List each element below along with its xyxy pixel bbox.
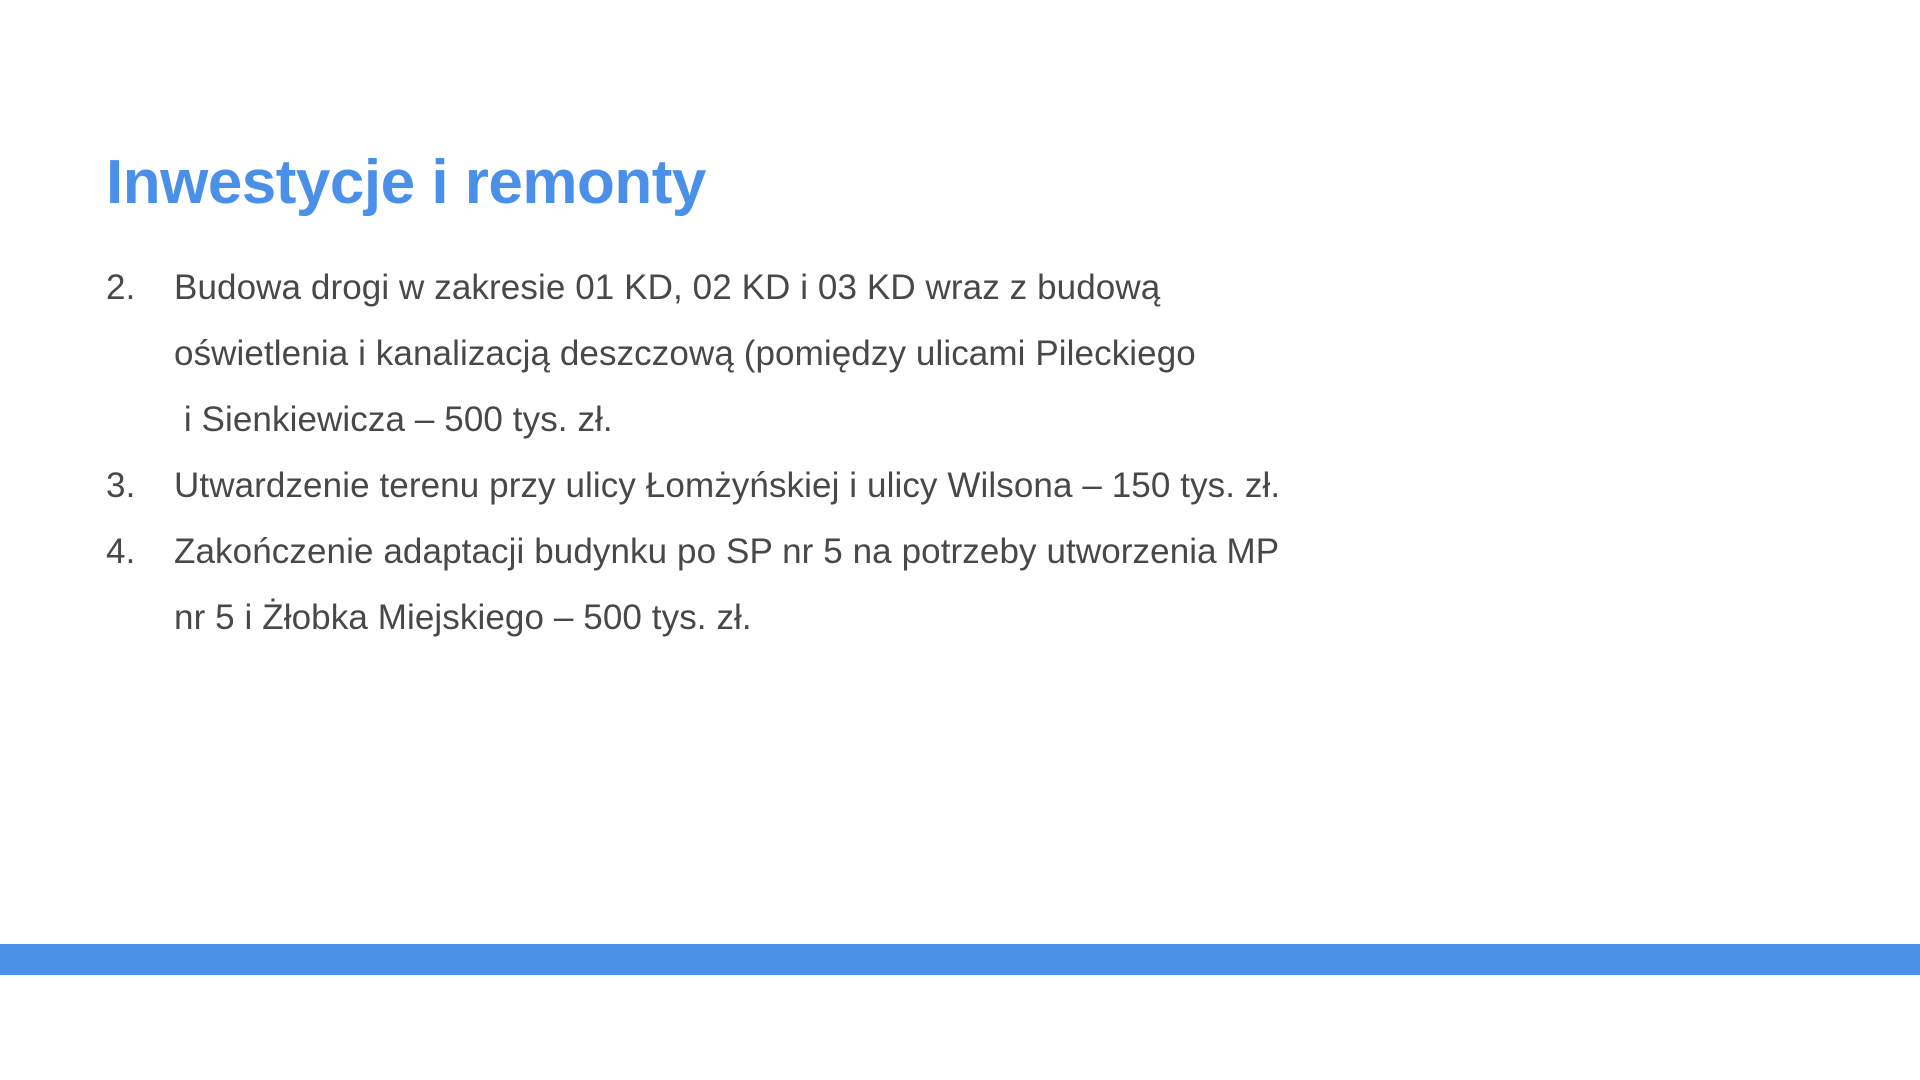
list-item: 4. Zakończenie adaptacji budynku po SP n… xyxy=(106,519,1666,651)
list-item-text: Zakończenie adaptacji budynku po SP nr 5… xyxy=(174,519,1666,651)
slide-body-list: 2. Budowa drogi w zakresie 01 KD, 02 KD … xyxy=(106,255,1666,651)
list-item-marker: 3. xyxy=(106,453,174,519)
list-item-marker: 2. xyxy=(106,255,174,321)
list-item-text: Budowa drogi w zakresie 01 KD, 02 KD i 0… xyxy=(174,255,1666,453)
list-item-text: Utwardzenie terenu przy ulicy Łomżyńskie… xyxy=(174,453,1666,519)
accent-bar xyxy=(0,944,1920,975)
presentation-slide: Inwestycje i remonty 2. Budowa drogi w z… xyxy=(0,0,1920,1080)
list-item-marker: 4. xyxy=(106,519,174,585)
list-item: 2. Budowa drogi w zakresie 01 KD, 02 KD … xyxy=(106,255,1666,453)
list-item: 3. Utwardzenie terenu przy ulicy Łomżyńs… xyxy=(106,453,1666,519)
page-title: Inwestycje i remonty xyxy=(106,150,706,215)
